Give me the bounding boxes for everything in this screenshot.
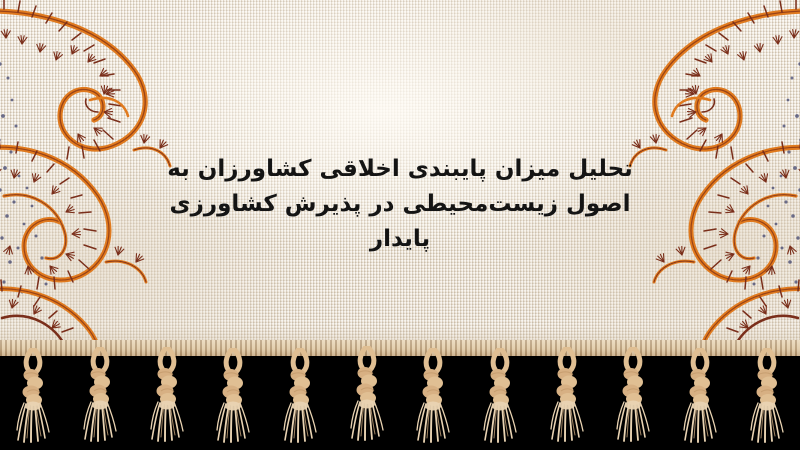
textile-title-card: تحلیل میزان پایبندی اخلاقی کشاورزان به ا… xyxy=(0,0,800,450)
title-line-1: تحلیل میزان پایبندی اخلاقی کشاورزان به xyxy=(165,152,635,187)
fabric-hem xyxy=(0,340,800,356)
tassel xyxy=(83,347,117,443)
tassel xyxy=(350,346,384,442)
page-title: تحلیل میزان پایبندی اخلاقی کشاورزان به ا… xyxy=(165,152,635,257)
tassel xyxy=(750,348,784,444)
tassel xyxy=(283,348,317,444)
title-line-2: اصول زیست‌محیطی در پذیرش کشاورزی xyxy=(165,187,635,222)
tassel xyxy=(550,347,584,443)
tassel xyxy=(683,348,717,444)
tassel xyxy=(16,348,50,444)
fringe-band xyxy=(0,340,800,450)
tassel xyxy=(483,348,517,444)
tassel xyxy=(150,347,184,443)
title-line-3: پایدار xyxy=(165,222,635,257)
tassel xyxy=(216,348,250,444)
tassel xyxy=(416,348,450,444)
tassel xyxy=(616,347,650,443)
